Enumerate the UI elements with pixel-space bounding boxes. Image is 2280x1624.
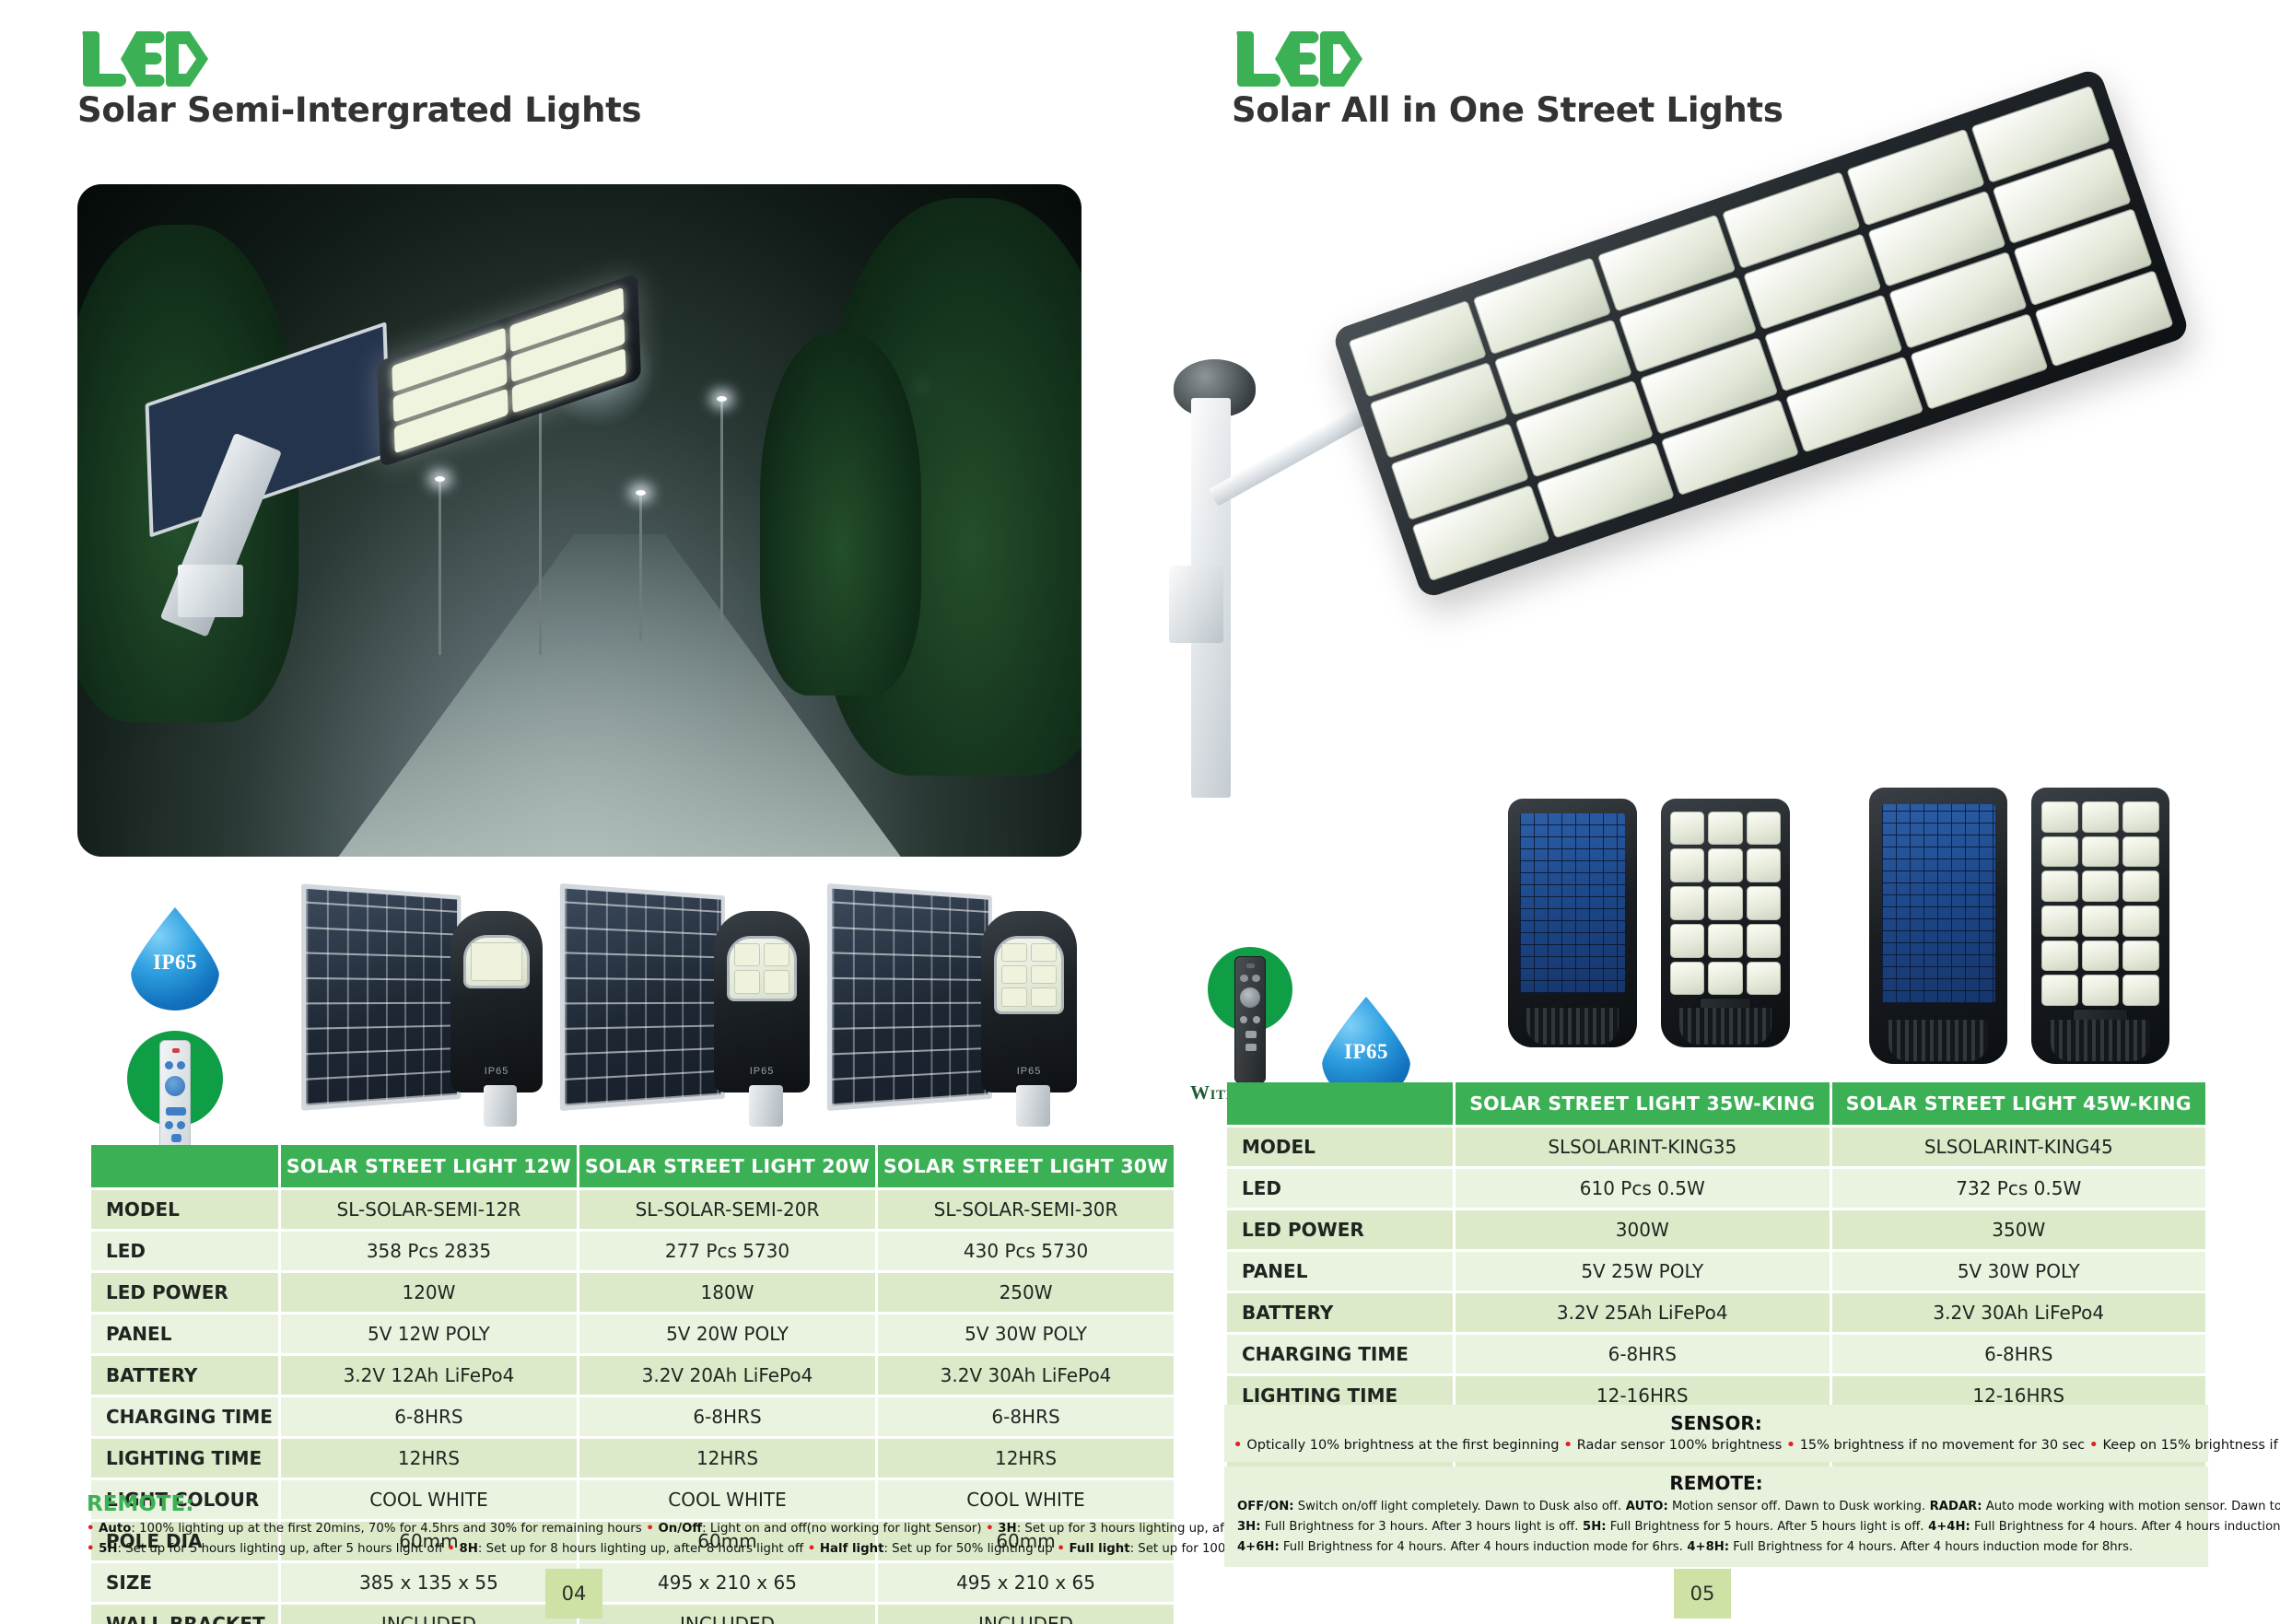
bullet-icon: •	[443, 1542, 460, 1556]
table-cell: 12HRS	[878, 1439, 1174, 1478]
table-cell: 5V 25W POLY	[1456, 1252, 1830, 1291]
table-col-header: SOLAR STREET LIGHT 20W	[579, 1145, 875, 1187]
note-keyword: 8H	[460, 1542, 478, 1556]
table-cell: 732 Pcs 0.5W	[1832, 1169, 2206, 1208]
table-cell: 5V 20W POLY	[579, 1314, 875, 1353]
solar-panel	[827, 883, 992, 1111]
note-text: : Set up for 8 hours lighting up, after …	[478, 1542, 803, 1556]
sensor-items: • Optically 10% brightness at the first …	[1234, 1438, 2199, 1453]
tree	[760, 333, 920, 695]
pole-mount	[1016, 1085, 1051, 1127]
note-keyword: 4+6H:	[1237, 1540, 1280, 1554]
note-text: Full Brightness for 4 hours. After 4 hou…	[1729, 1540, 2133, 1554]
bullet-icon: •	[1234, 1438, 1246, 1453]
note-text: Full Brightness for 5 hours. After 5 hou…	[1607, 1520, 1924, 1534]
solar-panel	[301, 883, 461, 1111]
wall-bracket	[1169, 566, 1224, 643]
table-cell: SL-SOLAR-SEMI-20R	[579, 1190, 875, 1229]
remote-notes-title: REMOTE:	[1237, 1472, 2195, 1494]
table-cell: SL-SOLAR-SEMI-30R	[878, 1190, 1174, 1229]
note-text: Switch on/off light completely. Dawn to …	[1294, 1500, 1622, 1513]
page-title: Solar All in One Street Lights	[1232, 90, 1783, 130]
remote-notes-left: REMOTE: • Auto: 100% lighting up at the …	[87, 1492, 1100, 1559]
table-cell: 495 x 210 x 65	[878, 1563, 1174, 1602]
table-cell: 5V 12W POLY	[281, 1314, 577, 1353]
solar-panel	[560, 883, 725, 1111]
led-head	[377, 273, 641, 467]
note-text: : Set up for 50% lighting up	[883, 1542, 1052, 1556]
ip65-print: IP65	[750, 1066, 775, 1077]
row-label: PANEL	[91, 1314, 278, 1353]
table-cell: 6-8HRS	[1832, 1335, 2206, 1373]
table-cell: 3.2V 30Ah LiFePo4	[878, 1356, 1174, 1395]
page-right: Solar All in One Street Lights	[1140, 0, 2280, 1624]
table-corner-cell	[1227, 1082, 1453, 1125]
table-row: MODELSL-SOLAR-SEMI-12RSL-SOLAR-SEMI-20RS…	[91, 1190, 1174, 1229]
table-cell: 180W	[579, 1273, 875, 1312]
table-cell: 6-8HRS	[281, 1397, 577, 1436]
sensor-notes: SENSOR: • Optically 10% brightness at th…	[1224, 1405, 2208, 1462]
ip65-label: IP65	[1322, 1040, 1410, 1064]
table-cell: INCLUDED	[878, 1605, 1174, 1624]
led-logo-icon	[1232, 28, 1783, 90]
note-text: Motion sensor off. Dawn to Dusk working.	[1668, 1500, 1925, 1513]
ip65-print: IP65	[485, 1066, 509, 1077]
table-row: CHARGING TIME6-8HRS6-8HRS6-8HRS	[91, 1397, 1174, 1436]
product-thumbnails-right	[1508, 788, 2208, 1064]
led-lens	[463, 935, 531, 988]
bullet-icon: •	[1053, 1542, 1070, 1556]
note-text: Full Brightness for 4 hours. After 4 hou…	[1280, 1540, 1683, 1554]
table-corner-cell	[91, 1145, 278, 1187]
table-cell: 3.2V 25Ah LiFePo4	[1456, 1293, 1830, 1332]
table-col-header: SOLAR STREET LIGHT 35W-KING	[1456, 1082, 1830, 1125]
sensor-item-text: 15% brightness if no movement for 30 sec	[1800, 1438, 2085, 1453]
page-title: Solar Semi-Intergrated Lights	[77, 90, 641, 130]
row-label: LED POWER	[91, 1273, 278, 1312]
table-cell: 430 Pcs 5730	[878, 1232, 1174, 1270]
remote-notes-line-1: • Auto: 100% lighting up at the first 20…	[87, 1519, 1100, 1539]
note-keyword: OFF/ON:	[1237, 1500, 1294, 1513]
remote-control-icon	[120, 1023, 230, 1162]
note-text: Full Brightness for 4 hours. After 4 hou…	[1970, 1520, 2280, 1534]
row-label: LED POWER	[1227, 1210, 1453, 1249]
pole-mount	[749, 1085, 784, 1127]
table-col-header: SOLAR STREET LIGHT 30W	[878, 1145, 1174, 1187]
table-cell: 350W	[1832, 1210, 2206, 1249]
note-keyword: 3H	[998, 1522, 1016, 1536]
bullet-icon: •	[2085, 1438, 2102, 1453]
table-cell: 12HRS	[579, 1439, 875, 1478]
bullet-icon: •	[1559, 1438, 1576, 1453]
led-lens	[994, 936, 1063, 1014]
table-row: MODELSLSOLARINT-KING35SLSOLARINT-KING45	[1227, 1127, 2205, 1166]
row-label: BATTERY	[1227, 1293, 1453, 1332]
table-cell: 5V 30W POLY	[878, 1314, 1174, 1353]
led-head: IP65	[981, 911, 1077, 1092]
note-keyword: RADAR:	[1925, 1500, 1982, 1513]
note-text: : Light on and off(no working for light …	[702, 1522, 981, 1536]
remote-control-icon	[1195, 940, 1305, 1078]
page-left: Solar Semi-Intergrated Lights	[0, 0, 1140, 1624]
note-text: Auto mode working with motion sensor. Da…	[1982, 1500, 2280, 1513]
table-row: SIZE385 x 135 x 55495 x 210 x 65495 x 21…	[91, 1563, 1174, 1602]
note-keyword: Half light	[820, 1542, 884, 1556]
led-lens	[727, 936, 796, 1001]
product-thumb-20w: IP65	[548, 880, 815, 1124]
row-label: LED	[1227, 1169, 1453, 1208]
pole-mount	[484, 1085, 517, 1127]
row-label: SIZE	[91, 1563, 278, 1602]
table-header-row: SOLAR STREET LIGHT 35W-KINGSOLAR STREET …	[1227, 1082, 2205, 1125]
page-number-left: 04	[545, 1569, 602, 1618]
table-cell: 5V 30W POLY	[1832, 1252, 2206, 1291]
row-label: PANEL	[1227, 1252, 1453, 1291]
note-text: : 100% lighting up at the first 20mins, …	[131, 1522, 641, 1536]
table-cell: 6-8HRS	[1456, 1335, 1830, 1373]
product-thumbnails-left: IP65 IP65	[290, 880, 1082, 1124]
sensor-item-text: Keep on 15% brightness if no movement	[2103, 1438, 2280, 1453]
sensor-item-text: Radar sensor 100% brightness	[1577, 1438, 1783, 1453]
led-logo-icon	[77, 28, 641, 90]
remote-notes-line-1: OFF/ON: Switch on/off light completely. …	[1237, 1497, 2195, 1517]
row-label: MODEL	[1227, 1127, 1453, 1166]
table-cell: 120W	[281, 1273, 577, 1312]
table-row: LED POWER120W180W250W	[91, 1273, 1174, 1312]
note-keyword: 4+8H:	[1683, 1540, 1729, 1554]
table-cell: 6-8HRS	[878, 1397, 1174, 1436]
note-keyword: 5H:	[1578, 1520, 1606, 1534]
remote-notes-right: REMOTE: OFF/ON: Switch on/off light comp…	[1224, 1466, 2208, 1567]
ip65-label: IP65	[131, 951, 219, 975]
table-cell: 6-8HRS	[579, 1397, 875, 1436]
note-keyword: 3H:	[1237, 1520, 1261, 1534]
ip65-print: IP65	[1017, 1066, 1042, 1077]
hero-fixture	[147, 265, 649, 588]
product-thumb-35w-panel	[1508, 799, 1637, 1047]
note-text: Full Brightness for 3 hours. After 3 hou…	[1261, 1520, 1579, 1534]
row-label: BATTERY	[91, 1356, 278, 1395]
table-row: LED POWER300W350W	[1227, 1210, 2205, 1249]
table-col-header: SOLAR STREET LIGHT 12W	[281, 1145, 577, 1187]
note-keyword: Auto	[99, 1522, 131, 1536]
note-keyword: Full light	[1070, 1542, 1130, 1556]
table-cell: 3.2V 12Ah LiFePo4	[281, 1356, 577, 1395]
table-header-row: SOLAR STREET LIGHT 12WSOLAR STREET LIGHT…	[91, 1145, 1174, 1187]
table-cell: 495 x 210 x 65	[579, 1563, 875, 1602]
table-cell: 610 Pcs 0.5W	[1456, 1169, 1830, 1208]
product-thumb-30w: IP65	[815, 880, 1082, 1124]
table-body: MODELSL-SOLAR-SEMI-12RSL-SOLAR-SEMI-20RS…	[91, 1190, 1174, 1624]
table-row: LED358 Pcs 2835277 Pcs 5730430 Pcs 5730	[91, 1232, 1174, 1270]
table-cell: INCLUDED	[579, 1605, 875, 1624]
wall-bracket	[178, 565, 243, 616]
note-keyword: 5H	[99, 1542, 117, 1556]
table-header-row: SOLAR STREET LIGHT 35W-KINGSOLAR STREET …	[1227, 1082, 2205, 1125]
led-head: IP65	[450, 911, 544, 1092]
table-cell: 3.2V 30Ah LiFePo4	[1832, 1293, 2206, 1332]
table-row: CHARGING TIME6-8HRS6-8HRS	[1227, 1335, 2205, 1373]
row-label: CHARGING TIME	[1227, 1335, 1453, 1373]
row-label: WALL BRACKET	[91, 1605, 278, 1624]
note-keyword: AUTO:	[1621, 1500, 1668, 1513]
table-header-row: SOLAR STREET LIGHT 12WSOLAR STREET LIGHT…	[91, 1145, 1174, 1187]
table-row: BATTERY3.2V 25Ah LiFePo43.2V 30Ah LiFePo…	[1227, 1293, 2205, 1332]
remote-notes-line-3: 4+6H: Full Brightness for 4 hours. After…	[1237, 1537, 2195, 1558]
led-head	[1331, 67, 2191, 600]
note-keyword: 4+4H:	[1923, 1520, 1970, 1534]
note-keyword: On/Off	[658, 1522, 702, 1536]
table-cell: 3.2V 20Ah LiFePo4	[579, 1356, 875, 1395]
table-cell: 277 Pcs 5730	[579, 1232, 875, 1270]
bullet-icon: •	[803, 1542, 820, 1556]
bullet-icon: •	[1782, 1438, 1799, 1453]
row-label: CHARGING TIME	[91, 1397, 278, 1436]
product-thumb-45w-panel	[1869, 788, 2007, 1064]
night-street-scene	[77, 184, 1082, 857]
product-thumb-12w: IP65	[290, 880, 548, 1124]
remote-notes-line-2: • 5H: Set up for 5 hours lighting up, af…	[87, 1539, 1100, 1560]
bullet-icon: •	[87, 1522, 99, 1536]
row-label: LIGHTING TIME	[91, 1439, 278, 1478]
table-cell: 300W	[1456, 1210, 1830, 1249]
sensor-item-text: Optically 10% brightness at the first be…	[1246, 1438, 1559, 1453]
table-row: LIGHTING TIME12HRS12HRS12HRS	[91, 1439, 1174, 1478]
bullet-icon: •	[642, 1522, 659, 1536]
table-cell: 12HRS	[281, 1439, 577, 1478]
hero-image-all-in-one	[1158, 166, 2254, 811]
brand-header-left: Solar Semi-Intergrated Lights	[77, 28, 641, 130]
remote-notes-title: REMOTE:	[87, 1492, 1100, 1516]
note-text: : Set up for 5 hours lighting up, after …	[118, 1542, 443, 1556]
catalog-spread: Solar Semi-Intergrated Lights	[0, 0, 2280, 1624]
table-row: PANEL5V 12W POLY5V 20W POLY5V 30W POLY	[91, 1314, 1174, 1353]
solar-panel	[146, 321, 392, 538]
led-head: IP65	[714, 911, 810, 1092]
table-cell: 358 Pcs 2835	[281, 1232, 577, 1270]
page-number-right: 05	[1674, 1569, 1731, 1618]
far-lamp	[720, 400, 723, 642]
hero-image-semi-integrated	[77, 184, 1082, 857]
table-row: LED610 Pcs 0.5W732 Pcs 0.5W	[1227, 1169, 2205, 1208]
table-row: WALL BRACKETINCLUDEDINCLUDEDINCLUDED	[91, 1605, 1174, 1624]
brand-header-right: Solar All in One Street Lights	[1232, 28, 1783, 130]
product-thumb-45w-leds	[2031, 788, 2169, 1064]
product-thumb-35w-leds	[1661, 799, 1790, 1047]
ip65-waterdrop-icon: IP65	[131, 907, 219, 1011]
bullet-icon: •	[87, 1542, 99, 1556]
table-col-header: SOLAR STREET LIGHT 45W-KING	[1832, 1082, 2206, 1125]
table-row: BATTERY3.2V 12Ah LiFePo43.2V 20Ah LiFePo…	[91, 1356, 1174, 1395]
table-cell: SL-SOLAR-SEMI-12R	[281, 1190, 577, 1229]
row-label: MODEL	[91, 1190, 278, 1229]
table-cell: SLSOLARINT-KING45	[1832, 1127, 2206, 1166]
table-cell: SLSOLARINT-KING35	[1456, 1127, 1830, 1166]
table-cell: 385 x 135 x 55	[281, 1563, 577, 1602]
remote-notes-line-2: 3H: Full Brightness for 3 hours. After 3…	[1237, 1517, 2195, 1537]
bullet-icon: •	[982, 1522, 999, 1536]
sensor-title: SENSOR:	[1234, 1412, 2199, 1434]
row-label: LED	[91, 1232, 278, 1270]
table-cell: 250W	[878, 1273, 1174, 1312]
table-row: PANEL5V 25W POLY5V 30W POLY	[1227, 1252, 2205, 1291]
table-cell: INCLUDED	[281, 1605, 577, 1624]
